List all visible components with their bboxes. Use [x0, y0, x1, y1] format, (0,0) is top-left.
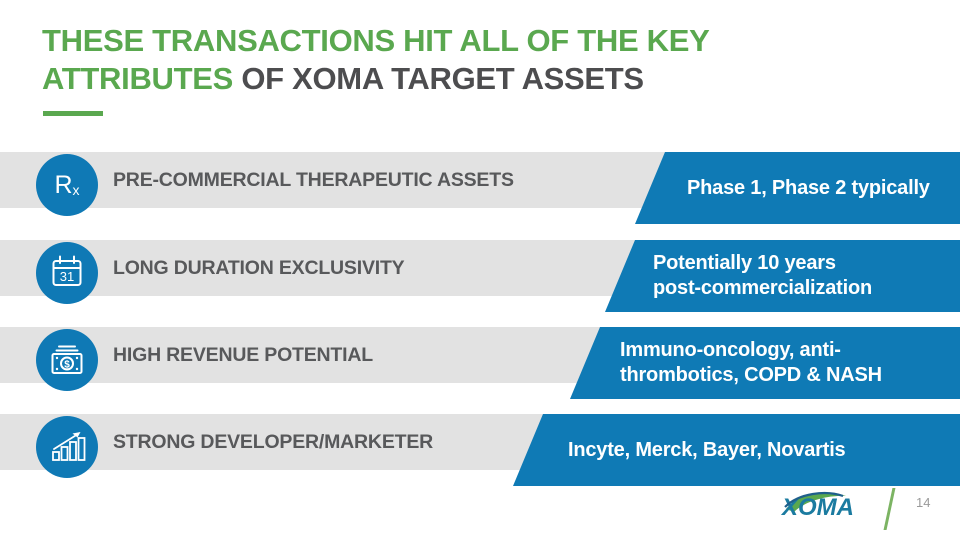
row-value-text: Incyte, Merck, Bayer, Novartis — [513, 414, 960, 486]
row-value-line: Incyte, Merck, Bayer, Novartis — [568, 438, 960, 463]
title-underline-rule — [43, 111, 103, 116]
calendar-icon-glyph: 31 — [36, 242, 98, 304]
row-value-line: post-commercialization — [653, 276, 960, 301]
money-icon-dollar: $ — [64, 360, 70, 371]
row-value-panel: Immuno-oncology, anti- thrombotics, COPD… — [570, 327, 960, 399]
page-title-line2-accent: ATTRIBUTES — [42, 61, 233, 96]
page-title: THESE TRANSACTIONS HIT ALL OF THE KEY AT… — [42, 22, 802, 98]
row-value-line: Phase 1, Phase 2 typically — [687, 176, 960, 201]
page-number: 14 — [916, 495, 930, 510]
row-value-line: Immuno-oncology, anti- — [620, 338, 960, 363]
row-value-panel: Potentially 10 years post-commercializat… — [605, 240, 960, 312]
page-title-line1: THESE TRANSACTIONS HIT ALL OF THE KEY — [42, 23, 709, 58]
rx-icon-subscript: x — [73, 182, 80, 198]
rx-icon-letter: R — [54, 171, 72, 200]
bar-chart-growth-icon — [36, 416, 98, 478]
rx-icon: Rx — [36, 154, 98, 216]
money-icon: $ — [36, 329, 98, 391]
bar-chart-growth-icon-glyph — [36, 416, 98, 478]
xoma-logo-text: XOMA — [780, 494, 854, 521]
row-label: PRE-COMMERCIAL THERAPEUTIC ASSETS — [113, 152, 514, 208]
page-title-line2-rest: OF XOMA TARGET ASSETS — [233, 61, 644, 96]
footer-slash-divider — [884, 488, 896, 530]
money-icon-glyph: $ — [36, 329, 98, 391]
xoma-logo: XOMA — [780, 490, 875, 524]
row-value-panel: Incyte, Merck, Bayer, Novartis — [513, 414, 960, 486]
row-value-text: Immuno-oncology, anti- thrombotics, COPD… — [570, 327, 960, 399]
row-label: HIGH REVENUE POTENTIAL — [113, 327, 373, 383]
row-value-text: Phase 1, Phase 2 typically — [635, 152, 960, 224]
calendar-icon: 31 — [36, 242, 98, 304]
xoma-logo-glyph: XOMA — [780, 490, 875, 524]
row-label: LONG DURATION EXCLUSIVITY — [113, 240, 404, 296]
title-block: THESE TRANSACTIONS HIT ALL OF THE KEY AT… — [42, 22, 802, 98]
row-value-line: thrombotics, COPD & NASH — [620, 363, 960, 388]
row-value-text: Potentially 10 years post-commercializat… — [605, 240, 960, 312]
row-value-panel: Phase 1, Phase 2 typically — [635, 152, 960, 224]
row-label: STRONG DEVELOPER/MARKETER — [113, 414, 433, 470]
row-value-line: Potentially 10 years — [653, 251, 960, 276]
calendar-icon-day: 31 — [60, 269, 74, 284]
